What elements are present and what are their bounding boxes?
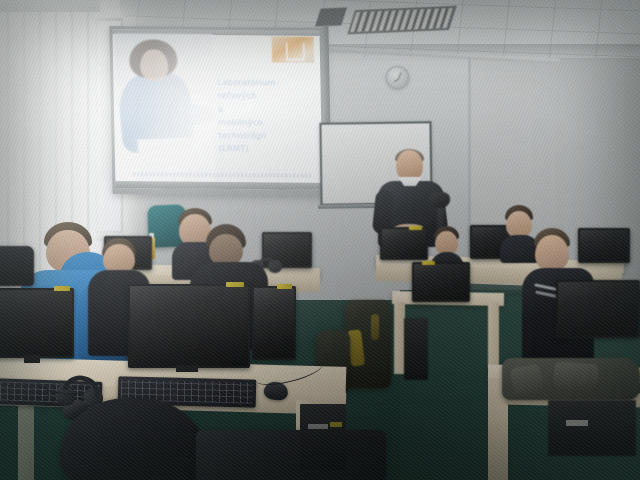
office-chair[interactable] (196, 430, 386, 480)
pc-tower (404, 318, 428, 380)
lcd-monitor (0, 288, 74, 358)
pc-tower (548, 400, 636, 456)
monitor-screen (0, 288, 74, 358)
slide-title-line-2: rečových (218, 89, 318, 103)
jacket-fold (553, 361, 599, 390)
monitor-screen (252, 286, 296, 360)
desk-foreground-leg (18, 404, 34, 480)
pc-tower-label (308, 424, 328, 429)
monitor-stand (24, 355, 40, 363)
slide-title-line-1: Laboratórium (217, 76, 317, 90)
pc-tower (300, 404, 346, 470)
lcd-monitor (128, 284, 250, 368)
blinds-headrail (0, 0, 100, 12)
monitor-sticker (422, 261, 435, 265)
backpack (345, 300, 391, 388)
projection-screen: Laboratórium rečových a mobilných techno… (109, 26, 327, 196)
monitor-stand (176, 365, 198, 372)
pc-tower-sticker (330, 422, 342, 427)
lcd-monitor (556, 280, 640, 338)
projected-slide: Laboratórium rečových a mobilných techno… (112, 29, 322, 190)
monitor-screen (380, 227, 428, 260)
office-chair[interactable] (60, 398, 206, 480)
monitor-sticker (409, 226, 422, 230)
monitor-sticker (54, 286, 70, 291)
pc-tower-label (566, 420, 588, 426)
draped-jacket (502, 358, 640, 400)
screen-bottom-bar (115, 181, 322, 190)
wall-clock-icon (386, 66, 409, 89)
slide-title-line-4: mobilných (218, 116, 318, 130)
office-chair[interactable] (0, 246, 34, 286)
desk-right-mid-leg (488, 302, 499, 368)
monitor-sticker (277, 284, 292, 289)
chair-back (60, 398, 206, 480)
slide-photo (114, 33, 215, 184)
lcd-monitor (252, 286, 296, 360)
chair-back (196, 430, 386, 480)
slide-title-line-3: a (218, 103, 318, 117)
jacket-fold (510, 364, 545, 399)
slide-photo-fade (114, 33, 215, 184)
monitor-sticker (226, 282, 244, 287)
student-head (535, 235, 569, 271)
institute-logo-icon (272, 36, 315, 62)
equipment-head (430, 192, 450, 208)
monitor-screen (128, 284, 250, 368)
monitor-screen (556, 280, 640, 338)
slide-title-line-6: (LRMT) (219, 142, 319, 156)
slide-title-line-5: technológií (218, 129, 318, 143)
chair-back (0, 246, 34, 286)
backpack-strap (371, 314, 379, 340)
presenter-head (396, 150, 423, 181)
recessed-fluorescent-light-icon (347, 6, 456, 34)
classroom-photo: Laboratórium rečových a mobilných techno… (0, 0, 640, 480)
monitor-screen (412, 262, 470, 302)
lcd-monitor (412, 262, 470, 302)
lcd-monitor (380, 227, 428, 260)
slide-title-block: Laboratórium rečových a mobilných techno… (217, 76, 319, 157)
